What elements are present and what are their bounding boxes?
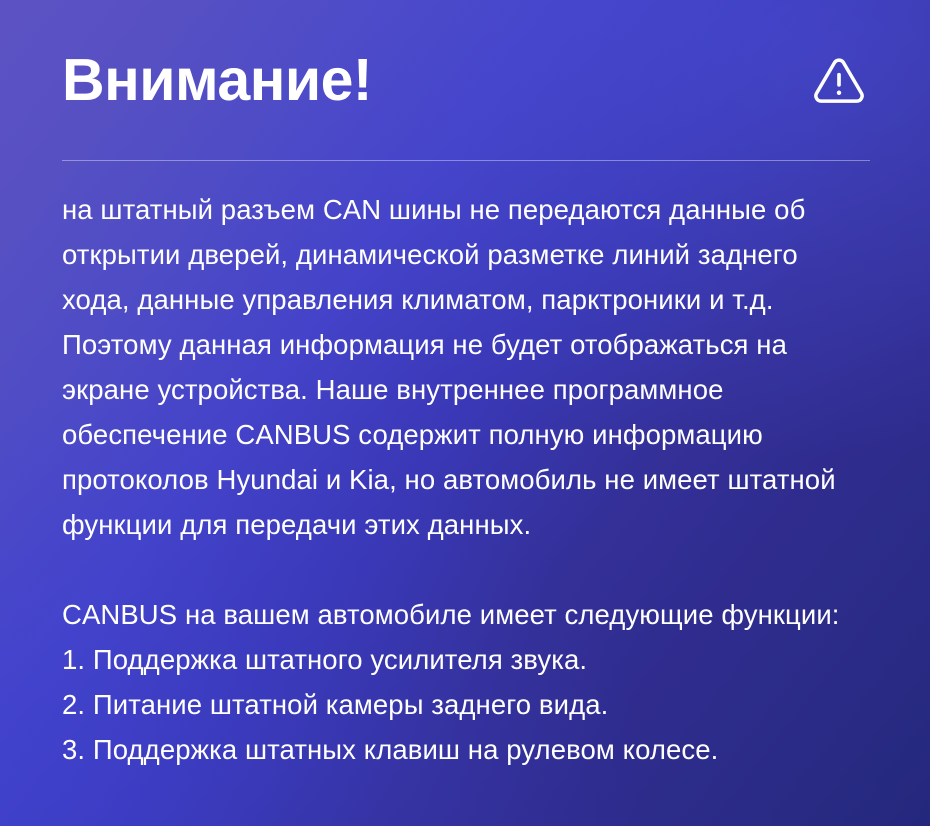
paragraph-line: обеспечение CANBUS содержит полную инфор… [62,412,870,457]
poster-content: Внимание! на штатный разъем CAN шины не … [0,0,930,772]
warning-triangle-icon [808,49,870,111]
features-block: CANBUS на вашем автомобиле имеет следующ… [62,592,870,772]
feature-item: 1. Поддержка штатного усилителя звука. [62,637,870,682]
features-heading: CANBUS на вашем автомобиле имеет следующ… [62,592,870,637]
paragraph-line: открытии дверей, динамической разметке л… [62,232,870,277]
header-divider [62,160,870,161]
paragraph-line: функции для передачи этих данных. [62,502,870,547]
paragraph-line: экране устройства. Наше внутреннее прогр… [62,367,870,412]
paragraph-line: хода, данные управления климатом, парктр… [62,277,870,322]
paragraph-line: Поэтому данная информация не будет отобр… [62,322,870,367]
paragraph-block: на штатный разъем CAN шины не передаются… [62,187,870,547]
feature-item: 3. Поддержка штатных клавиш на рулевом к… [62,727,870,772]
paragraph-line: протоколов Hyundai и Kia, но автомобиль … [62,457,870,502]
paragraph-line: на штатный разъем CAN шины не передаются… [62,187,870,232]
feature-item: 2. Питание штатной камеры заднего вида. [62,682,870,727]
poster-header: Внимание! [62,0,870,160]
warning-poster: Внимание! на штатный разъем CAN шины не … [0,0,930,826]
page-title: Внимание! [62,51,372,110]
